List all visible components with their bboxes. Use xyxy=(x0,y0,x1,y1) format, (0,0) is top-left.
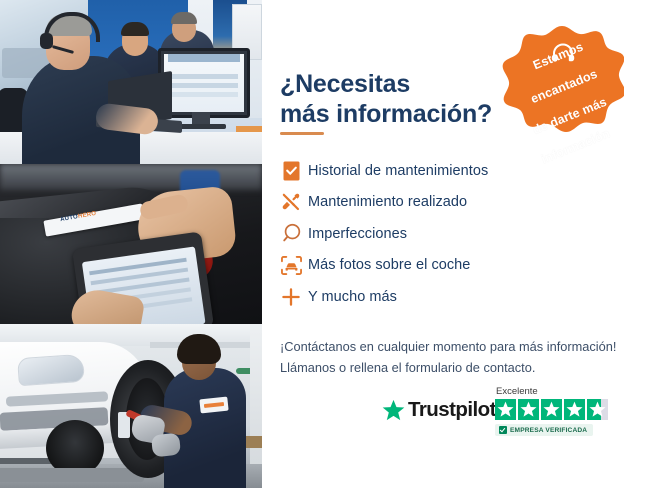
rating-star-2 xyxy=(518,399,539,420)
wrench-screwdriver-icon xyxy=(274,189,308,215)
feature-item-mas: Y mucho más xyxy=(274,281,634,313)
blurred-background-strip xyxy=(0,164,262,190)
trustpilot-logo[interactable]: Trustpilot xyxy=(382,398,496,422)
inspection-photo: AUTOHERO xyxy=(0,164,262,324)
trustpilot-rating-block: Excelente xyxy=(495,386,650,439)
verified-company-label: EMPRESA VERIFICADA xyxy=(510,427,587,434)
call-center-photo xyxy=(0,0,262,164)
contact-paragraph: ¡Contáctanos en cualquier momento para m… xyxy=(280,337,636,378)
feature-label: Y mucho más xyxy=(308,289,397,305)
clipboard-check-icon xyxy=(274,158,308,184)
second-agent-hair xyxy=(121,22,149,36)
feature-label: Mantenimiento realizado xyxy=(308,194,467,210)
photo-collage: AUTOHERO xyxy=(0,0,262,488)
feature-item-fotos: Más fotos sobre el coche xyxy=(274,250,634,282)
feature-item-mantenimiento: Mantenimiento realizado xyxy=(274,187,634,219)
trustpilot-star-icon xyxy=(382,399,405,422)
contact-paragraph-line-2: Llámanos o rellena el formulario de cont… xyxy=(280,358,636,379)
feature-label: Más fotos sobre el coche xyxy=(308,257,470,273)
support-badge: Estamos encantados de darte más informac… xyxy=(500,22,624,146)
verified-check-icon xyxy=(499,426,507,434)
monitor-content-rows xyxy=(170,74,238,79)
car-lift-ramp xyxy=(0,468,144,482)
rating-star-4 xyxy=(564,399,585,420)
magnifier-icon xyxy=(274,221,308,247)
mechanic-hair xyxy=(177,334,221,364)
monitor-base xyxy=(178,124,226,129)
trustpilot-wordmark: Trustpilot xyxy=(408,398,496,422)
mechanic-glove-lower xyxy=(151,433,181,458)
tablet-form-rows xyxy=(89,258,187,276)
trustpilot-widget[interactable]: Trustpilot Excelente xyxy=(382,386,650,448)
mechanic-wheel-photo xyxy=(0,324,262,488)
feature-item-imperfecciones: Imperfecciones xyxy=(274,218,634,250)
headset-icon xyxy=(550,43,576,65)
feature-item-historial: Historial de mantenimientos xyxy=(274,155,634,187)
feature-label: Historial de mantenimientos xyxy=(308,163,488,179)
title-divider xyxy=(280,132,324,135)
background-person-hair xyxy=(171,12,197,24)
agent-headset-earcup xyxy=(40,33,53,49)
verified-company-badge: EMPRESA VERIFICADA xyxy=(495,424,593,436)
mechanic-uniform-badge xyxy=(199,397,228,414)
contact-paragraph-line-1: ¡Contáctanos en cualquier momento para m… xyxy=(280,337,636,358)
trustpilot-rating-label: Excelente xyxy=(496,386,650,397)
rating-star-1 xyxy=(495,399,516,420)
rating-star-5 xyxy=(587,399,608,420)
page-title-line-2: más información? xyxy=(280,99,530,130)
feature-label: Imperfecciones xyxy=(308,226,407,242)
car-scan-icon xyxy=(274,252,308,278)
rating-star-3 xyxy=(541,399,562,420)
monitor-toolbar xyxy=(168,54,240,62)
page-title-line-1: ¿Necesitas xyxy=(280,70,410,98)
trustpilot-star-rating xyxy=(495,399,650,420)
page-title: ¿Necesitas más información? xyxy=(280,69,530,130)
promo-banner: AUTOHERO xyxy=(0,0,650,488)
plus-icon xyxy=(274,284,308,310)
car-headlight xyxy=(17,354,85,387)
feature-list: Historial de mantenimientos Mantenim xyxy=(274,155,634,313)
monitor-screen xyxy=(164,54,244,112)
